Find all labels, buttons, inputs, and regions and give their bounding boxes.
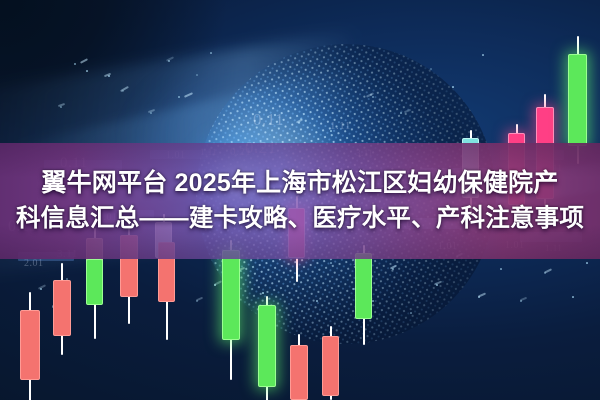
title-line-1: 翼牛网平台 2025年上海市松江区妇幼保健院产 <box>41 166 558 200</box>
particle <box>482 54 484 56</box>
title-line-2: 科信息汇总——建卡攻略、医疗水平、产科注意事项 <box>16 202 584 236</box>
candlestick-body <box>355 253 372 319</box>
banner-image: 0.110.211.110.111.011.110.213.111.011.11… <box>0 0 600 400</box>
candlestick-body <box>258 305 276 387</box>
particle <box>452 86 454 88</box>
candlestick-body <box>86 259 103 305</box>
candlestick-body <box>322 336 339 396</box>
particle <box>316 300 318 302</box>
candlestick-body <box>290 345 308 400</box>
particle <box>430 68 432 70</box>
particle <box>196 74 198 76</box>
particle <box>352 288 354 290</box>
particle <box>210 52 212 54</box>
particle <box>178 96 180 98</box>
particle <box>500 268 502 270</box>
candlestick-body <box>568 54 587 146</box>
particle <box>400 112 402 114</box>
page-title: 翼牛网平台 2025年上海市松江区妇幼保健院产 科信息汇总——建卡攻略、医疗水平… <box>0 143 600 259</box>
particle <box>372 96 374 98</box>
candlestick-body <box>20 310 40 380</box>
particle <box>74 63 76 65</box>
candlestick-body <box>222 250 240 340</box>
particle <box>372 300 374 302</box>
particle <box>410 312 412 314</box>
candlestick-body <box>53 280 71 336</box>
